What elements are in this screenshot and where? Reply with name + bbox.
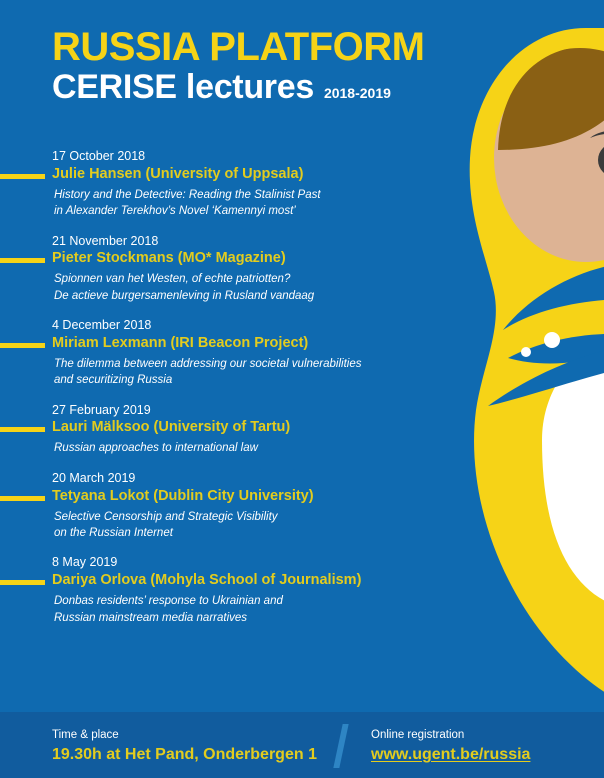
poster-footer: Time & place 19.30h at Het Pand, Onderbe… bbox=[0, 712, 604, 778]
lecture-topic-line: Donbas residents’ response to Ukrainian … bbox=[54, 593, 420, 609]
lecture-date: 27 February 2019 bbox=[52, 402, 420, 419]
time-place-label: Time & place bbox=[52, 728, 317, 743]
lecture-topic-line: on the Russian Internet bbox=[54, 525, 420, 541]
lecture-topic: Donbas residents’ response to Ukrainian … bbox=[54, 593, 420, 626]
matryoshka-doll-illustration bbox=[390, 0, 604, 715]
lecture-date: 20 March 2019 bbox=[52, 470, 420, 487]
lecture-speaker-row: Pieter Stockmans (MO* Magazine) bbox=[0, 250, 420, 270]
page-title: RUSSIA PLATFORM bbox=[52, 26, 452, 68]
list-item: 20 March 2019 Tetyana Lokot (Dublin City… bbox=[0, 470, 420, 542]
doll-eye bbox=[598, 143, 604, 177]
time-place-block: Time & place 19.30h at Het Pand, Onderbe… bbox=[52, 728, 317, 765]
doll-hair bbox=[498, 46, 604, 150]
registration-block: Online registration www.ugent.be/russia bbox=[371, 728, 530, 765]
lecture-speaker-row: Tetyana Lokot (Dublin City University) bbox=[0, 488, 420, 508]
registration-link[interactable]: www.ugent.be/russia bbox=[371, 745, 530, 765]
lecture-topic: Selective Censorship and Strategic Visib… bbox=[54, 509, 420, 542]
lecture-topic: The dilemma between addressing our socie… bbox=[54, 356, 420, 389]
slash-divider-icon bbox=[333, 724, 348, 768]
lecture-date: 21 November 2018 bbox=[52, 233, 420, 250]
doll-scarf-body bbox=[470, 28, 604, 714]
dash-marker-icon bbox=[0, 343, 45, 348]
doll-face bbox=[494, 54, 604, 262]
lecture-topic: Spionnen van het Westen, of echte patrio… bbox=[54, 271, 420, 304]
dash-marker-icon bbox=[0, 258, 45, 263]
list-item: 27 February 2019 Lauri Mälksoo (Universi… bbox=[0, 402, 420, 457]
poster-canvas: RUSSIA PLATFORM CERISE lectures 2018-201… bbox=[0, 0, 604, 778]
lecture-topic: History and the Detective: Reading the S… bbox=[54, 187, 420, 220]
lecture-speaker: Pieter Stockmans (MO* Magazine) bbox=[52, 250, 286, 266]
dash-marker-icon bbox=[0, 496, 45, 501]
lecture-speaker: Lauri Mälksoo (University of Tartu) bbox=[52, 419, 290, 435]
lecture-speaker: Julie Hansen (University of Uppsala) bbox=[52, 166, 303, 182]
season-years: 2018-2019 bbox=[324, 85, 391, 101]
list-item: 21 November 2018 Pieter Stockmans (MO* M… bbox=[0, 233, 420, 305]
lecture-date: 17 October 2018 bbox=[52, 148, 420, 165]
lecture-topic-line: in Alexander Terekhov’s Novel ‘Kamennyi … bbox=[54, 203, 420, 219]
lecture-date: 4 December 2018 bbox=[52, 317, 420, 334]
list-item: 4 December 2018 Miriam Lexmann (IRI Beac… bbox=[0, 317, 420, 389]
dash-marker-icon bbox=[0, 174, 45, 179]
registration-label: Online registration bbox=[371, 728, 530, 743]
lecture-speaker-row: Miriam Lexmann (IRI Beacon Project) bbox=[0, 335, 420, 355]
poster-header: RUSSIA PLATFORM CERISE lectures 2018-201… bbox=[52, 26, 452, 106]
time-place-value: 19.30h at Het Pand, Onderbergen 1 bbox=[52, 745, 317, 765]
lecture-list: 17 October 2018 Julie Hansen (University… bbox=[0, 148, 420, 639]
lecture-topic: Russian approaches to international law bbox=[54, 440, 420, 456]
doll-eyebrow bbox=[590, 130, 604, 138]
lecture-topic-line: Spionnen van het Westen, of echte patrio… bbox=[54, 271, 420, 287]
list-item: 8 May 2019 Dariya Orlova (Mohyla School … bbox=[0, 554, 420, 626]
lecture-speaker-row: Lauri Mälksoo (University of Tartu) bbox=[0, 419, 420, 439]
lecture-topic-line: History and the Detective: Reading the S… bbox=[54, 187, 420, 203]
lecture-topic-line: Russian mainstream media narratives bbox=[54, 610, 420, 626]
lecture-speaker-row: Julie Hansen (University of Uppsala) bbox=[0, 166, 420, 186]
subtitle-row: CERISE lectures 2018-2019 bbox=[52, 70, 452, 106]
lecture-topic-line: and securitizing Russia bbox=[54, 372, 420, 388]
lecture-speaker: Dariya Orlova (Mohyla School of Journali… bbox=[52, 572, 361, 588]
lecture-topic-line: Russian approaches to international law bbox=[54, 440, 420, 456]
lecture-topic-line: The dilemma between addressing our socie… bbox=[54, 356, 420, 372]
lecture-date: 8 May 2019 bbox=[52, 554, 420, 571]
lecture-speaker-row: Dariya Orlova (Mohyla School of Journali… bbox=[0, 572, 420, 592]
doll-apron bbox=[542, 330, 604, 612]
doll-petal-decoration bbox=[488, 262, 604, 406]
dash-marker-icon bbox=[0, 580, 45, 585]
lecture-speaker: Tetyana Lokot (Dublin City University) bbox=[52, 488, 314, 504]
lecture-topic-line: Selective Censorship and Strategic Visib… bbox=[54, 509, 420, 525]
dash-marker-icon bbox=[0, 427, 45, 432]
lecture-topic-line: De actieve burgersamenleving in Rusland … bbox=[54, 288, 420, 304]
lecture-speaker: Miriam Lexmann (IRI Beacon Project) bbox=[52, 335, 308, 351]
list-item: 17 October 2018 Julie Hansen (University… bbox=[0, 148, 420, 220]
page-subtitle: CERISE lectures bbox=[52, 70, 314, 106]
